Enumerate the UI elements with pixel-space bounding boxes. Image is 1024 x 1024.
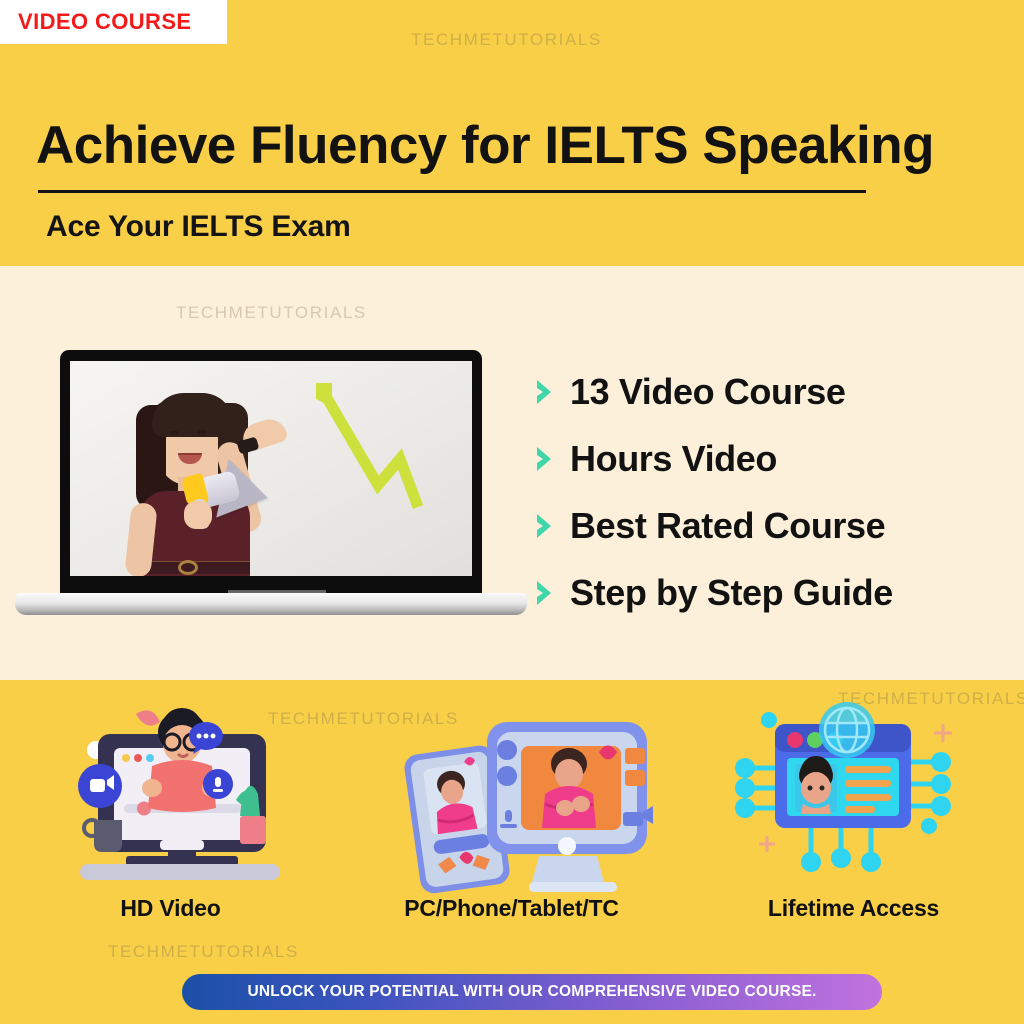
hd-video-monitor-icon xyxy=(0,690,341,895)
list-item-label: Best Rated Course xyxy=(570,505,885,547)
title-divider xyxy=(38,190,866,193)
feature-label: PC/Phone/Tablet/TC xyxy=(341,895,682,922)
feature-cards: HD Video xyxy=(0,690,1024,950)
list-item-label: Hours Video xyxy=(570,438,777,480)
lifetime-access-profile-icon xyxy=(683,690,1024,895)
list-item: Best Rated Course xyxy=(534,492,1004,559)
list-item: Step by Step Guide xyxy=(534,559,1004,626)
growth-chart-icon xyxy=(310,377,472,539)
feature-multi-device: PC/Phone/Tablet/TC xyxy=(341,690,682,922)
feature-label: HD Video xyxy=(0,895,341,922)
feature-hd-video: HD Video xyxy=(0,690,341,922)
laptop-base xyxy=(15,593,527,615)
list-item: Hours Video xyxy=(534,425,1004,492)
page-title: Achieve Fluency for IELTS Speaking xyxy=(36,118,996,174)
video-course-badge: VIDEO COURSE xyxy=(0,0,227,44)
chevron-right-icon xyxy=(534,377,570,407)
watermark-top: TECHMETUTORIALS xyxy=(411,30,602,50)
laptop-screen xyxy=(70,361,472,576)
feature-label: Lifetime Access xyxy=(683,895,1024,922)
laptop-lid xyxy=(60,350,482,595)
feature-lifetime-access: Lifetime Access xyxy=(683,690,1024,922)
feature-bullet-list: 13 Video Course Hours Video Best Rated C… xyxy=(534,358,1004,626)
laptop-mockup xyxy=(15,350,527,615)
presenter-illustration xyxy=(122,379,312,576)
list-item-label: 13 Video Course xyxy=(570,371,845,413)
video-course-badge-label: VIDEO COURSE xyxy=(0,9,192,35)
chevron-right-icon xyxy=(534,578,570,608)
chevron-right-icon xyxy=(534,444,570,474)
cta-button[interactable]: UNLOCK YOUR POTENTIAL WITH OUR COMPREHEN… xyxy=(182,974,882,1010)
list-item: 13 Video Course xyxy=(534,358,1004,425)
watermark-middle: TECHMETUTORIALS xyxy=(176,303,367,323)
page-subtitle: Ace Your IELTS Exam xyxy=(46,210,351,244)
list-item-label: Step by Step Guide xyxy=(570,572,893,614)
chevron-right-icon xyxy=(534,511,570,541)
multi-device-icon xyxy=(341,690,682,895)
cta-button-label: UNLOCK YOUR POTENTIAL WITH OUR COMPREHEN… xyxy=(247,983,816,1001)
